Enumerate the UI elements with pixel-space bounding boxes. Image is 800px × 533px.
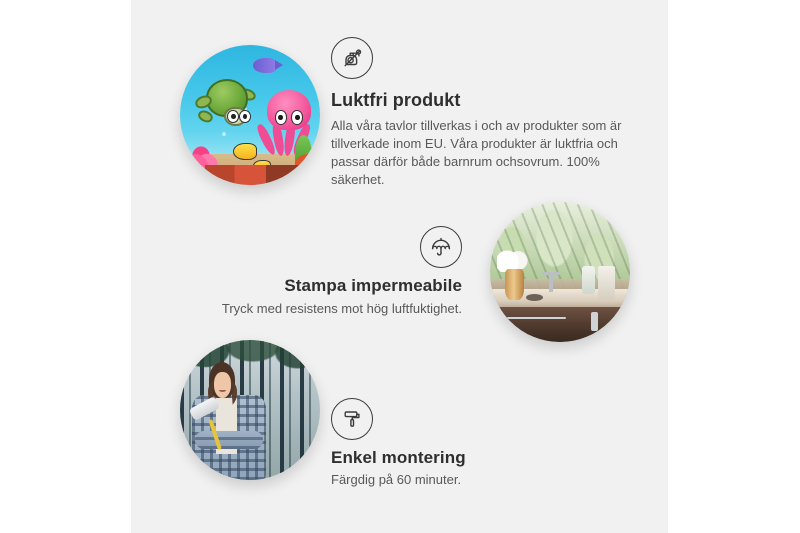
feature-waterproof-print: Stampa impermeabile Tryck med resistens … bbox=[190, 226, 462, 318]
bathroom-tropical-wallpaper-photo bbox=[490, 202, 630, 342]
feature-title: Enkel montering bbox=[331, 448, 601, 468]
feature-description: Tryck med resistens mot hög luftfuktighe… bbox=[190, 300, 462, 318]
feature-description: Alla våra tavlor tillverkas i och av pro… bbox=[331, 117, 631, 189]
paint-roller-icon bbox=[331, 398, 373, 440]
yellow-fish bbox=[233, 143, 257, 160]
feature-title: Luktfri produkt bbox=[331, 90, 631, 111]
sea-turtle bbox=[194, 76, 258, 129]
no-odour-spray-icon bbox=[331, 37, 373, 79]
photo-strip bbox=[205, 165, 303, 185]
soap-dispenser bbox=[582, 266, 595, 294]
feature-easy-mounting: Enkel montering Färgdig på 60 minuter. bbox=[331, 398, 601, 489]
blue-fish bbox=[253, 58, 277, 73]
woman-paint-roller-forest-photo bbox=[180, 340, 320, 480]
umbrella-icon bbox=[420, 226, 462, 268]
gold-vase bbox=[505, 269, 523, 300]
feature-title: Stampa impermeabile bbox=[190, 276, 462, 296]
bubble bbox=[222, 132, 226, 136]
promo-graphic: Luktfri produkt Alla våra tavlor tillver… bbox=[0, 0, 800, 533]
faucet bbox=[549, 272, 553, 292]
feature-description: Färgdig på 60 minuter. bbox=[331, 471, 601, 489]
vanity-cabinet bbox=[490, 307, 630, 342]
feature-odour-free: Luktfri produkt Alla våra tavlor tillver… bbox=[331, 37, 631, 189]
underwater-cartoon-photo bbox=[180, 45, 320, 185]
towel bbox=[598, 266, 615, 300]
woman-figure bbox=[188, 362, 269, 480]
